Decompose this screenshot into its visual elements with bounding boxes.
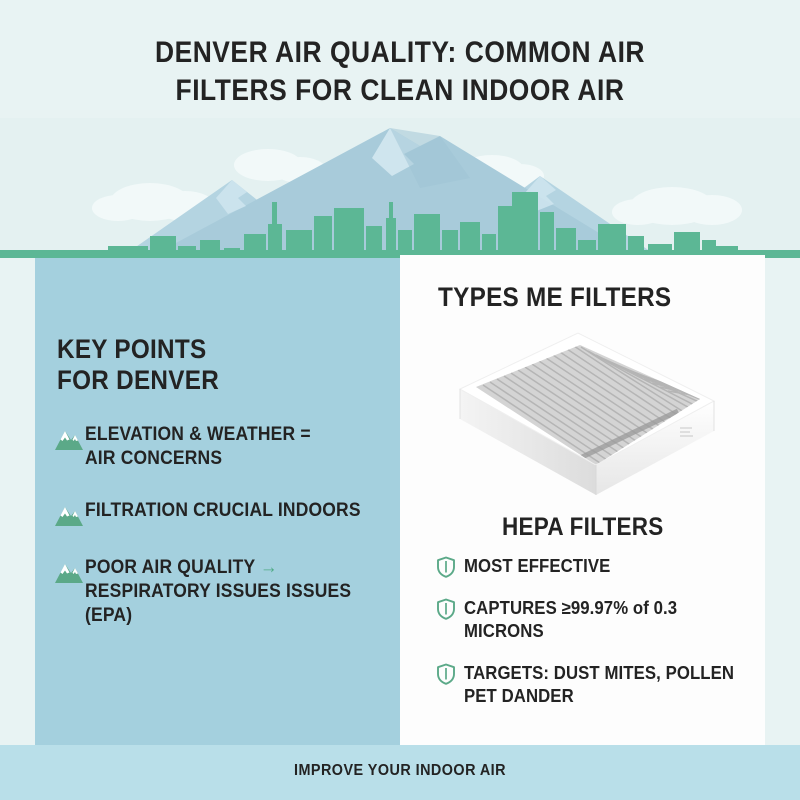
- title-line-2: FILTERS FOR CLEAN INDOOR AIR: [48, 72, 752, 110]
- list-item-label-pre: POOR AIR QUALITY: [85, 557, 260, 578]
- key-points-heading-line-1: KEY POINTS: [57, 334, 219, 365]
- hepa-air-filter-photo: [428, 327, 738, 497]
- footer-tagline: IMPROVE YOUR INDOOR AIR: [40, 762, 760, 780]
- list-item: ELEVATION & WEATHER = AIR CONCERNS: [53, 423, 393, 471]
- types-heading: TYPES ME FILTERS: [438, 282, 671, 313]
- list-item-label-post: RESPIRATORY ISSUES ISSUES (EPA): [85, 581, 351, 626]
- list-item: TARGETS: DUST MITES, POLLEN PET DANDER: [436, 662, 766, 708]
- shield-icon: [436, 556, 464, 578]
- filter-types-panel: TYPES ME FILTERS: [400, 255, 765, 745]
- list-item-label: MOST EFFECTIVE: [464, 555, 610, 578]
- mountain-icon: [53, 502, 85, 528]
- list-item: POOR AIR QUALITY → RESPIRATORY ISSUES IS…: [53, 556, 393, 628]
- list-item: FILTRATION CRUCIAL INDOORS: [53, 499, 393, 528]
- list-item: MOST EFFECTIVE: [436, 555, 766, 578]
- infographic-poster: DENVER AIR QUALITY: COMMON AIR FILTERS F…: [0, 0, 800, 800]
- key-points-heading-line-2: FOR DENVER: [57, 365, 219, 396]
- hepa-feature-list: MOST EFFECTIVE CAPTURES ≥99.97% of 0.3 M…: [436, 555, 766, 727]
- page-title: DENVER AIR QUALITY: COMMON AIR FILTERS F…: [0, 34, 800, 110]
- list-item-label: CAPTURES ≥99.97% of 0.3 MICRONS: [464, 597, 745, 643]
- shield-icon: [436, 598, 464, 620]
- key-points-panel: KEY POINTS FOR DENVER ELEVATION & WEATHE…: [35, 258, 400, 745]
- list-item-label: POOR AIR QUALITY → RESPIRATORY ISSUES IS…: [85, 556, 351, 628]
- key-points-heading: KEY POINTS FOR DENVER: [57, 334, 219, 396]
- list-item-label: FILTRATION CRUCIAL INDOORS: [85, 499, 361, 523]
- mountain-icon: [53, 426, 85, 452]
- hepa-heading: HEPA FILTERS: [400, 513, 765, 542]
- list-item-label: TARGETS: DUST MITES, POLLEN PET DANDER: [464, 662, 734, 708]
- mountain-icon: [53, 559, 85, 585]
- title-line-1: DENVER AIR QUALITY: COMMON AIR: [48, 34, 752, 72]
- list-item: CAPTURES ≥99.97% of 0.3 MICRONS: [436, 597, 766, 643]
- list-item-label: ELEVATION & WEATHER = AIR CONCERNS: [85, 423, 311, 471]
- shield-icon: [436, 663, 464, 685]
- header-scene-illustration: [0, 118, 800, 258]
- key-points-list: ELEVATION & WEATHER = AIR CONCERNS FILTR…: [53, 423, 393, 656]
- arrow-right-icon: →: [260, 557, 278, 578]
